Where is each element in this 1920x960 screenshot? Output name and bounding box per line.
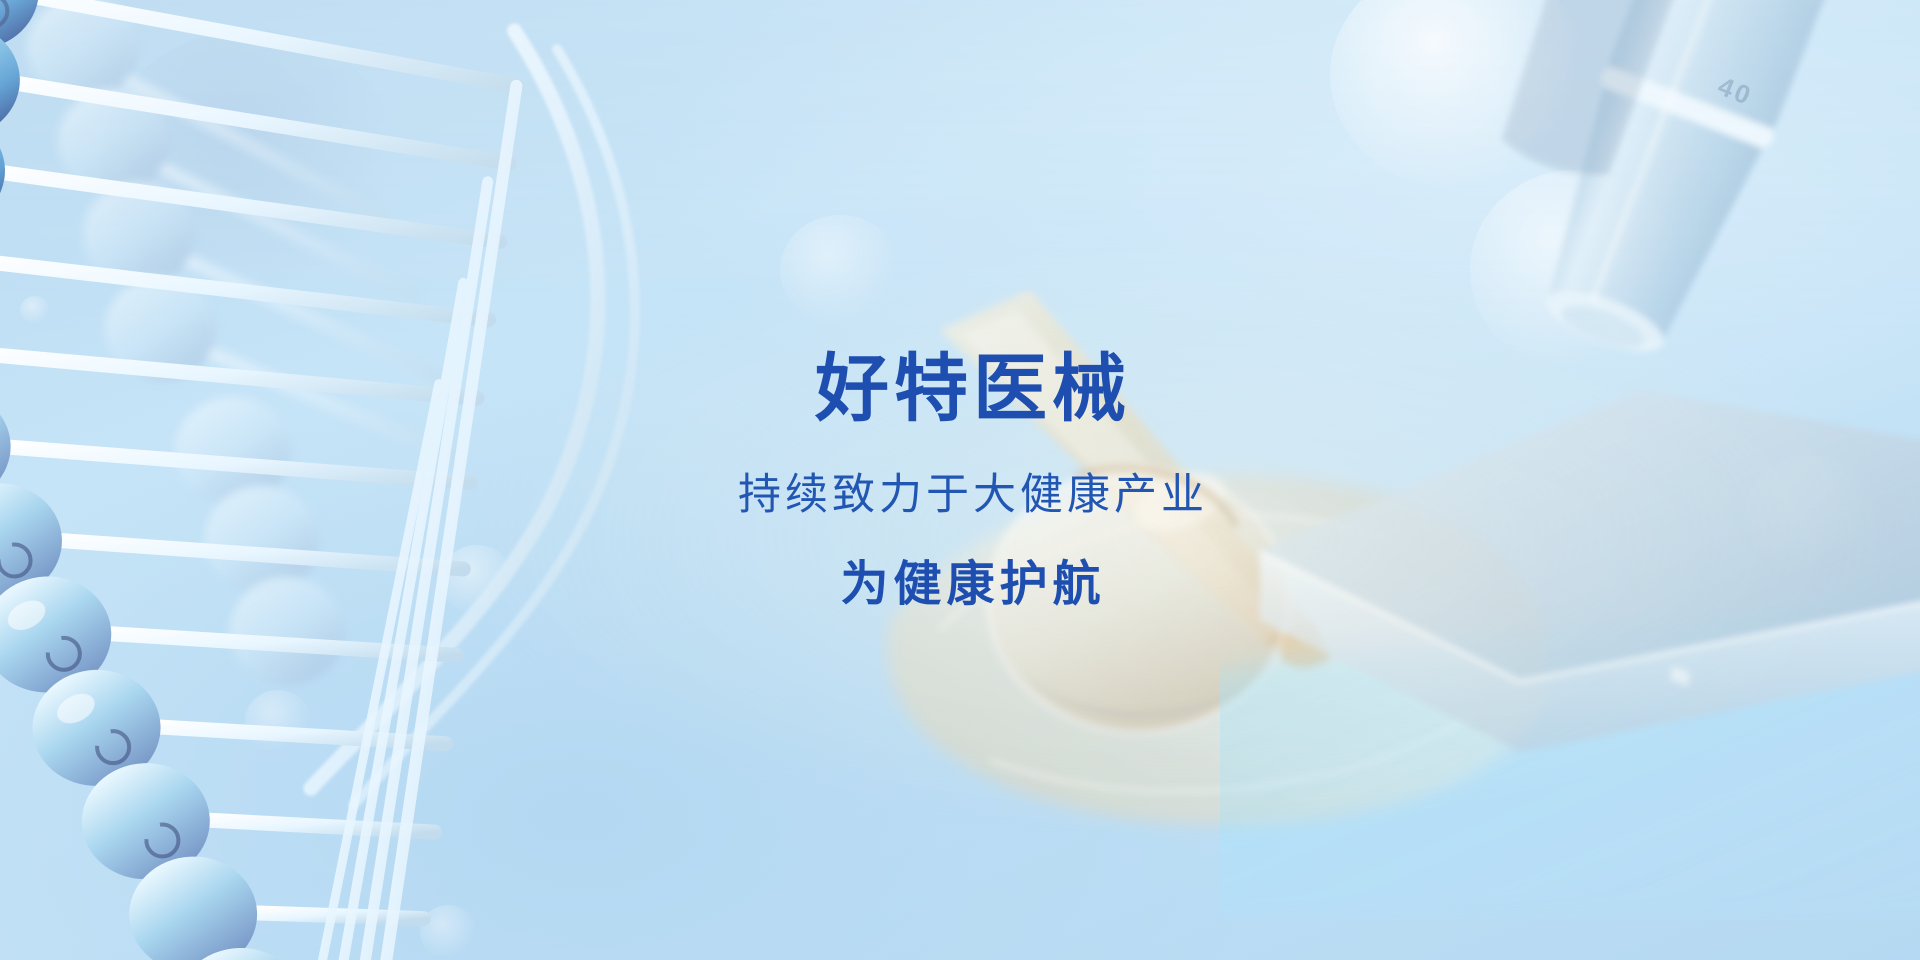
company-title: 好特医械 [815, 352, 1131, 426]
hero-copy-block: 好特医械 持续致力于大健康产业 为健康护航 [0, 0, 1920, 960]
company-slogan: 持续致力于大健康产业 [738, 474, 1208, 517]
hero-banner: 40 [0, 0, 1920, 960]
company-tagline: 为健康护航 [840, 561, 1105, 609]
